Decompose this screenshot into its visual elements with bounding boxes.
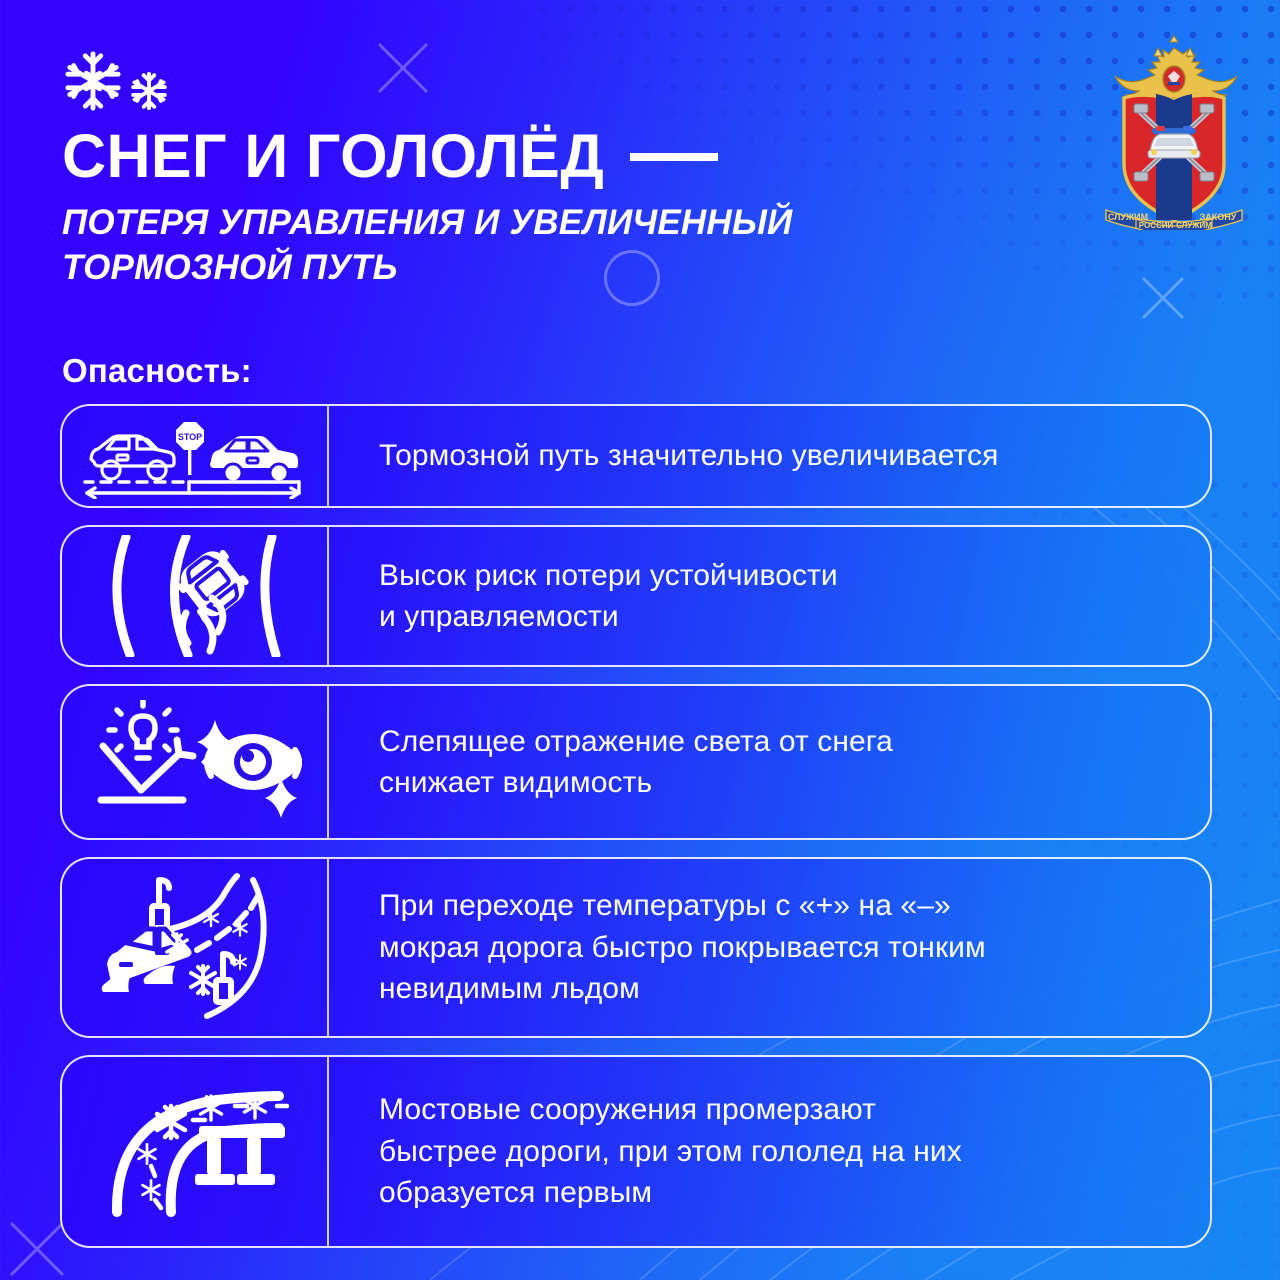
title-dash-icon (630, 153, 718, 161)
cross-icon (8, 1220, 66, 1278)
list-item-text: Тормозной путь значительно увеличивается (329, 406, 1210, 506)
frozen-bridge-icon (62, 1057, 329, 1246)
list-item: При переходе температуры с «+» на «–» мо… (60, 857, 1212, 1038)
patrol-car-icon (1148, 126, 1200, 158)
list-item: Слепящее отражение света от снега снижае… (60, 684, 1212, 840)
page-title-text: СНЕГ И ГОЛОЛЁД (62, 126, 604, 187)
danger-list: STOP (60, 404, 1212, 1265)
cross-icon (1140, 275, 1186, 321)
double-headed-eagle-icon (1115, 36, 1237, 99)
list-item-text: Слепящее отражение света от снега снижае… (329, 686, 1210, 838)
list-item-text: Мостовые сооружения промерзают быстрее д… (329, 1057, 1210, 1246)
header: СНЕГ И ГОЛОЛЁД ПОТЕРЯ УПРАВЛЕНИЯ И УВЕЛИ… (62, 50, 1012, 291)
icy-road-car-icon (62, 859, 329, 1036)
stop-sign-label: STOP (177, 432, 201, 442)
list-item-text: Высок риск потери устойчивости и управля… (329, 527, 1210, 665)
snowflake-small-icon (128, 70, 170, 112)
list-item: STOP (60, 404, 1212, 508)
braking-distance-icon: STOP (62, 406, 329, 506)
stop-sign-icon: STOP (176, 422, 204, 475)
list-item-text: При переходе температуры с «+» на «–» мо… (329, 859, 1210, 1036)
section-label: Опасность: (62, 352, 252, 390)
gibdd-emblem: СЛУЖИМ ЗАКОНУ РОССИИ СЛУЖИМ (1096, 34, 1252, 230)
list-item: Высок риск потери устойчивости и управля… (60, 525, 1212, 667)
motto-center-top: РОССИИ (1139, 221, 1174, 230)
snowflakes-decoration (62, 50, 1012, 112)
page-title: СНЕГ И ГОЛОЛЁД (62, 126, 1012, 187)
page-subtitle-line1: ПОТЕРЯ УПРАВЛЕНИЯ И УВЕЛИЧЕННЫЙ (62, 201, 1012, 246)
page-subtitle-line2: ТОРМОЗНОЙ ПУТЬ (62, 246, 1012, 291)
list-item: Мостовые сооружения промерзают быстрее д… (60, 1055, 1212, 1248)
police-shield-icon (1124, 94, 1224, 220)
glare-light-eye-icon (62, 686, 329, 838)
page-subtitle: ПОТЕРЯ УПРАВЛЕНИЯ И УВЕЛИЧЕННЫЙ ТОРМОЗНО… (62, 201, 1012, 291)
snowflake-icon (62, 50, 124, 112)
motto-center-bottom: СЛУЖИМ (1176, 221, 1212, 230)
car-skid-curve-icon (62, 527, 329, 665)
